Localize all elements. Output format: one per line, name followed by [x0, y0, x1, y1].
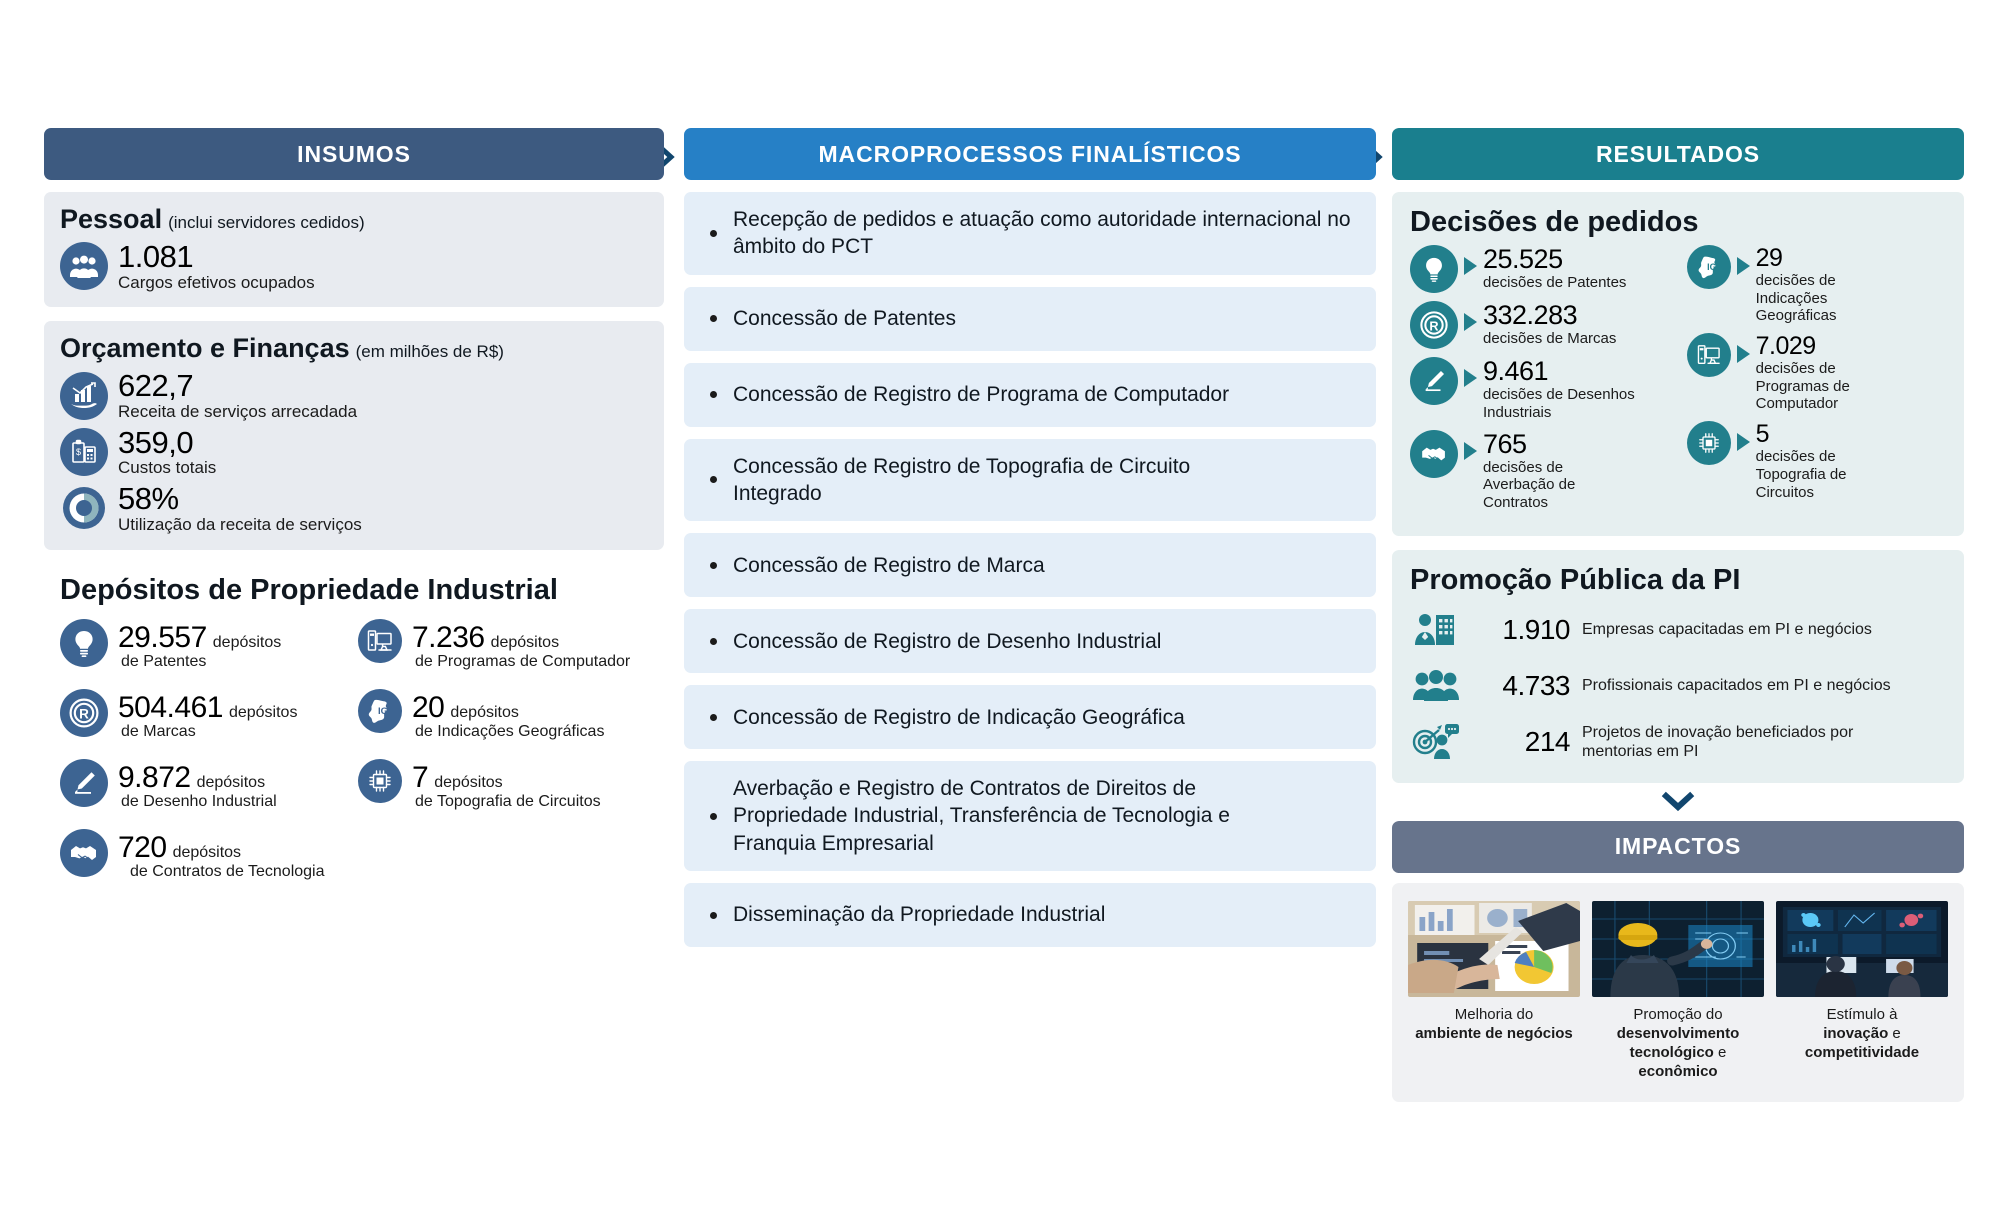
card-decisoes-title: Decisões de pedidos	[1410, 206, 1948, 239]
bullet-icon	[710, 912, 717, 919]
pencil-icon	[60, 759, 108, 807]
triangle-marker-icon	[1737, 345, 1750, 363]
macroprocesso-item[interactable]: Concessão de Registro de Programa de Com…	[684, 363, 1376, 427]
metric-value: 622,7	[118, 370, 357, 403]
impacto-caption: Estímulo à inovação e competitividade	[1776, 1005, 1948, 1063]
deposit-label: de Desenho Industrial	[118, 793, 277, 811]
deposit-line-1: 504.461 depósitos	[118, 691, 297, 725]
banner-resultados: RESULTADOS	[1392, 128, 1964, 180]
deposit-item-contratos-tecnologia: 720 depósitos de Contratos de Tecnologia	[60, 829, 350, 881]
engineer-hud-photo	[1592, 901, 1764, 997]
brazil-ig-icon: IG	[358, 689, 402, 733]
impacto-caption-strong2: econômico	[1638, 1063, 1717, 1080]
invoice-calculator-icon: $	[60, 428, 108, 476]
decisao-body: 332.283 decisões de Marcas	[1483, 301, 1616, 348]
deposit-unit: depósitos	[434, 774, 503, 792]
metric-value: 1.081	[118, 241, 315, 274]
decisao-label: decisões de Topografia de Circuitos	[1756, 448, 1906, 501]
deposit-value: 504.461	[118, 691, 223, 725]
deposit-unit: depósitos	[229, 704, 298, 722]
decisao-label: decisões de Desenhos Industriais	[1483, 386, 1677, 421]
svg-text:R: R	[79, 706, 89, 721]
deposit-unit: depósitos	[213, 634, 282, 652]
bullet-icon	[710, 391, 717, 398]
deposit-item-patentes: 29.557 depósitos de Patentes	[60, 619, 350, 671]
bullet-icon	[710, 315, 717, 322]
deposit-line-1: 20 depósitos	[412, 691, 604, 725]
decisao-body: 7.029 decisões de Programas de Computado…	[1756, 333, 1906, 413]
deposit-item-marcas: R 504.461 depósitos de Marcas	[60, 689, 350, 741]
chip-icon	[358, 759, 402, 803]
card-orcamento-title-main: Orçamento e Finanças	[60, 333, 350, 364]
computer-icon	[358, 619, 402, 663]
decisao-value: 765	[1483, 430, 1633, 459]
deposit-line-1: 29.557 depósitos	[118, 621, 281, 655]
decisao-body: 5 decisões de Topografia de Circuitos	[1756, 421, 1906, 501]
card-impactos: Melhoria do ambiente de negócios	[1392, 883, 1964, 1102]
decisao-body: 29 decisões de Indicações Geográficas	[1756, 245, 1906, 325]
donut-chart-icon	[60, 484, 108, 532]
triangle-marker-icon	[1464, 369, 1477, 387]
decisao-label: decisões de Indicações Geográficas	[1756, 272, 1906, 325]
macroprocesso-item[interactable]: Concessão de Registro de Desenho Industr…	[684, 609, 1376, 673]
decisao-item-programas-computador: 7.029 decisões de Programas de Computado…	[1687, 333, 1948, 413]
decisao-item-patentes: 25.525 decisões de Patentes	[1410, 245, 1677, 293]
metric-receita-servicos: 622,7 Receita de serviços arrecadada	[60, 370, 648, 420]
banner-insumos: INSUMOS	[44, 128, 664, 180]
bullet-icon	[710, 230, 717, 237]
decisao-body: 9.461 decisões de Desenhos Industriais	[1483, 357, 1677, 422]
metric-custos-text: 359,0 Custos totais	[118, 427, 216, 477]
decisao-item-averbacao-contratos: 765 decisões de Averbação de Contratos	[1410, 430, 1677, 512]
decisao-value: 25.525	[1483, 245, 1626, 274]
deposit-unit: depósitos	[491, 634, 560, 652]
deposit-body: 504.461 depósitos de Marcas	[118, 689, 297, 741]
column-resultados: RESULTADOS Decisões de pedidos	[1392, 128, 1964, 1102]
promocao-item-profissionais: 4.733 Profissionais capacitados em PI e …	[1410, 663, 1948, 709]
macroprocesso-label: Concessão de Registro de Desenho Industr…	[733, 628, 1161, 655]
deposit-label: de Programas de Computador	[412, 653, 630, 671]
macroprocesso-item[interactable]: Concessão de Patentes	[684, 287, 1376, 351]
desk-analytics-photo	[1408, 901, 1580, 997]
decisao-value: 5	[1756, 421, 1906, 448]
deposit-value: 9.872	[118, 761, 191, 795]
macroprocesso-label: Averbação e Registro de Contratos de Dir…	[733, 775, 1278, 857]
promocao-value: 1.910	[1474, 614, 1570, 646]
promocao-item-empresas: 1.910 Empresas capacitadas em PI e negóc…	[1410, 607, 1948, 653]
decisoes-right-column: IG 29 decisões de Indicações Geográficas	[1687, 245, 1948, 520]
bullet-icon	[710, 638, 717, 645]
decisao-item-desenhos-industriais: 9.461 decisões de Desenhos Industriais	[1410, 357, 1677, 422]
metric-label: Utilização da receita de serviços	[118, 516, 362, 534]
decisao-item-marcas: R 332.283 decisões de Marcas	[1410, 301, 1677, 349]
card-orcamento-title-sub: (em milhões de R$)	[356, 342, 504, 362]
svg-text:IG: IG	[1707, 262, 1716, 272]
impacto-caption-strong: ambiente de negócios	[1415, 1025, 1573, 1042]
decisao-label: decisões de Marcas	[1483, 330, 1616, 348]
deposit-item-desenho-industrial: 9.872 depósitos de Desenho Industrial	[60, 759, 350, 811]
depositos-grid: 29.557 depósitos de Patentes	[60, 619, 648, 881]
macroprocesso-item[interactable]: Concessão de Registro de Indicação Geogr…	[684, 685, 1376, 749]
promocao-label: Empresas capacitadas em PI e negócios	[1582, 620, 1872, 639]
brazil-ig-icon: IG	[1687, 245, 1731, 289]
promocao-label: Profissionais capacitados em PI e negóci…	[1582, 676, 1891, 695]
metric-cargos-efetivos-text: 1.081 Cargos efetivos ocupados	[118, 241, 315, 291]
deposit-unit: depósitos	[197, 774, 266, 792]
promocao-value: 214	[1474, 726, 1570, 758]
column-insumos: INSUMOS Pessoal (inclui servidores cedid…	[44, 128, 664, 885]
handshake-icon	[1410, 430, 1458, 478]
handshake-icon	[60, 829, 108, 877]
deposit-body: 7.236 depósitos de Programas de Computad…	[412, 619, 630, 671]
card-orcamento: Orçamento e Finanças (em milhões de R$) …	[44, 321, 664, 549]
deposit-item-indicacoes-geograficas: IG 20 depósitos de Indicações Geográfica…	[358, 689, 648, 741]
decisao-body: 765 decisões de Averbação de Contratos	[1483, 430, 1633, 512]
svg-text:R: R	[1429, 319, 1438, 333]
card-promocao-title: Promoção Pública da PI	[1410, 564, 1948, 597]
decisao-value: 332.283	[1483, 301, 1616, 330]
promocao-label: Projetos de inovação beneficiados por me…	[1582, 723, 1862, 761]
target-mentor-icon	[1410, 719, 1462, 765]
impacto-caption-strong: inovação	[1823, 1025, 1888, 1042]
card-pessoal-title-main: Pessoal	[60, 204, 162, 235]
deposit-body: 720 depósitos de Contratos de Tecnologia	[118, 829, 325, 881]
infographic-canvas: INSUMOS Pessoal (inclui servidores cedid…	[0, 0, 1999, 1213]
bullet-icon	[710, 562, 717, 569]
decisao-item-topografia-circuitos: 5 decisões de Topografia de Circuitos	[1687, 421, 1948, 501]
triangle-marker-icon	[1737, 257, 1750, 275]
card-pessoal: Pessoal (inclui servidores cedidos) 1.08…	[44, 192, 664, 307]
deposit-line-1: 7.236 depósitos	[412, 621, 630, 655]
computer-icon	[1687, 333, 1731, 377]
decisao-value: 9.461	[1483, 357, 1677, 386]
deposit-item-topografia-circuitos: 7 depósitos de Topografia de Circuitos	[358, 759, 648, 811]
metric-value: 359,0	[118, 427, 216, 460]
deposit-label: de Contratos de Tecnologia	[118, 863, 325, 881]
deposit-unit: depósitos	[173, 844, 242, 862]
bullet-icon	[710, 476, 717, 483]
bullet-icon	[710, 813, 717, 820]
macroprocessos-list: Recepção de pedidos e atuação como autor…	[684, 192, 1376, 947]
svg-text:$: $	[76, 447, 81, 457]
promocao-value: 4.733	[1474, 670, 1570, 702]
macroprocesso-item[interactable]: Concessão de Registro de Marca	[684, 533, 1376, 597]
deposit-body: 29.557 depósitos de Patentes	[118, 619, 281, 671]
svg-text:IG: IG	[378, 706, 388, 717]
macroprocesso-label: Concessão de Registro de Programa de Com…	[733, 381, 1229, 408]
impacto-item-inovacao-competitividade: Estímulo à inovação e competitividade	[1776, 901, 1948, 1082]
impacto-caption-strong2: competitividade	[1805, 1044, 1919, 1061]
decisao-item-indicacoes-geograficas: IG 29 decisões de Indicações Geográficas	[1687, 245, 1948, 325]
promocao-item-projetos-mentoria: 214 Projetos de inovação beneficiados po…	[1410, 719, 1948, 765]
triangle-marker-icon	[1737, 433, 1750, 451]
metric-receita-text: 622,7 Receita de serviços arrecadada	[118, 370, 357, 420]
decisao-label: decisões de Averbação de Contratos	[1483, 459, 1633, 512]
deposit-label: de Marcas	[118, 723, 297, 741]
card-pessoal-title-sub: (inclui servidores cedidos)	[168, 213, 365, 233]
people-icon	[60, 242, 108, 290]
metric-custos-totais: $ 359,0 Custos totais	[60, 427, 648, 477]
deposit-label: de Topografia de Circuitos	[412, 793, 601, 811]
chevron-down-icon	[1392, 791, 1964, 815]
impacto-caption: Promoção do desenvolvimento tecnológico …	[1592, 1005, 1764, 1082]
deposit-value: 7.236	[412, 621, 485, 655]
group-people-icon	[1410, 663, 1462, 709]
metric-value: 58%	[118, 483, 362, 516]
card-decisoes: Decisões de pedidos	[1392, 192, 1964, 536]
deposit-body: 20 depósitos de Indicações Geográficas	[412, 689, 604, 741]
triangle-marker-icon	[1464, 257, 1477, 275]
macroprocesso-label: Concessão de Registro de Indicação Geogr…	[733, 704, 1185, 731]
deposit-value: 29.557	[118, 621, 207, 655]
impacto-item-desenvolvimento-tecnologico: Promoção do desenvolvimento tecnológico …	[1592, 901, 1764, 1082]
triangle-marker-icon	[1464, 313, 1477, 331]
lightbulb-icon	[60, 619, 108, 667]
metric-label: Cargos efetivos ocupados	[118, 274, 315, 292]
impacto-caption-mid: e	[1892, 1025, 1900, 1042]
deposit-line-1: 720 depósitos	[118, 831, 325, 865]
column-macroprocessos: MACROPROCESSOS FINALÍSTICOS Recepção de …	[684, 128, 1376, 959]
impacto-item-ambiente-negocios: Melhoria do ambiente de negócios	[1408, 901, 1580, 1082]
control-room-photo	[1776, 901, 1948, 997]
triangle-marker-icon	[1464, 442, 1477, 460]
banner-macroprocessos: MACROPROCESSOS FINALÍSTICOS	[684, 128, 1376, 180]
macroprocesso-item[interactable]: Averbação e Registro de Contratos de Dir…	[684, 761, 1376, 871]
deposit-line-1: 7 depósitos	[412, 761, 601, 795]
deposit-value: 720	[118, 831, 167, 865]
chip-icon	[1687, 421, 1731, 465]
deposit-item-programas-computador: 7.236 depósitos de Programas de Computad…	[358, 619, 648, 671]
bullet-icon	[710, 714, 717, 721]
registered-icon: R	[1410, 301, 1458, 349]
macroprocesso-label: Concessão de Patentes	[733, 305, 956, 332]
card-depositos-title: Depósitos de Propriedade Industrial	[60, 574, 648, 607]
card-pessoal-title: Pessoal (inclui servidores cedidos)	[60, 204, 648, 235]
card-depositos: Depósitos de Propriedade Industrial 29.5…	[44, 564, 664, 885]
banner-impactos: IMPACTOS	[1392, 821, 1964, 873]
decisao-label: decisões de Patentes	[1483, 274, 1626, 292]
card-orcamento-title: Orçamento e Finanças (em milhões de R$)	[60, 333, 648, 364]
deposit-label: de Indicações Geográficas	[412, 723, 604, 741]
impacto-caption-mid: e	[1718, 1044, 1726, 1061]
decisao-value: 29	[1756, 245, 1906, 272]
impacto-caption-pre: Promoção do	[1633, 1006, 1722, 1023]
decisao-value: 7.029	[1756, 333, 1906, 360]
metric-utilizacao-receita: 58% Utilização da receita de serviços	[60, 483, 648, 533]
macroprocesso-item[interactable]: Concessão de Registro de Topografia de C…	[684, 439, 1376, 522]
macroprocesso-item[interactable]: Recepção de pedidos e atuação como autor…	[684, 192, 1376, 275]
impacto-caption-pre: Melhoria do	[1455, 1006, 1533, 1023]
lightbulb-icon	[1410, 245, 1458, 293]
decisoes-left-column: 25.525 decisões de Patentes R	[1410, 245, 1677, 520]
deposit-value: 7	[412, 761, 428, 795]
metric-label: Receita de serviços arrecadada	[118, 403, 357, 421]
deposit-body: 7 depósitos de Topografia de Circuitos	[412, 759, 601, 811]
metric-cargos-efetivos: 1.081 Cargos efetivos ocupados	[60, 241, 648, 291]
decisao-label: decisões de Programas de Computador	[1756, 360, 1906, 413]
impacto-caption-pre: Estímulo à	[1827, 1006, 1898, 1023]
macroprocesso-item[interactable]: Disseminação da Propriedade Industrial	[684, 883, 1376, 947]
registered-icon: R	[60, 689, 108, 737]
impactos-grid: Melhoria do ambiente de negócios	[1408, 901, 1948, 1082]
pencil-icon	[1410, 357, 1458, 405]
impacto-caption: Melhoria do ambiente de negócios	[1415, 1005, 1573, 1043]
deposit-label: de Patentes	[118, 653, 281, 671]
macroprocesso-label: Recepção de pedidos e atuação como autor…	[733, 206, 1358, 261]
macroprocesso-label: Concessão de Registro de Topografia de C…	[733, 453, 1253, 508]
deposit-line-1: 9.872 depósitos	[118, 761, 277, 795]
metric-utilizacao-text: 58% Utilização da receita de serviços	[118, 483, 362, 533]
decisao-body: 25.525 decisões de Patentes	[1483, 245, 1626, 292]
deposit-value: 20	[412, 691, 444, 725]
chart-hand-icon	[60, 372, 108, 420]
deposit-body: 9.872 depósitos de Desenho Industrial	[118, 759, 277, 811]
building-person-icon	[1410, 607, 1462, 653]
metric-label: Custos totais	[118, 459, 216, 477]
macroprocesso-label: Disseminação da Propriedade Industrial	[733, 901, 1105, 928]
deposit-unit: depósitos	[450, 704, 519, 722]
card-promocao: Promoção Pública da PI	[1392, 550, 1964, 783]
decisoes-grid: 25.525 decisões de Patentes R	[1410, 245, 1948, 520]
macroprocesso-label: Concessão de Registro de Marca	[733, 552, 1045, 579]
